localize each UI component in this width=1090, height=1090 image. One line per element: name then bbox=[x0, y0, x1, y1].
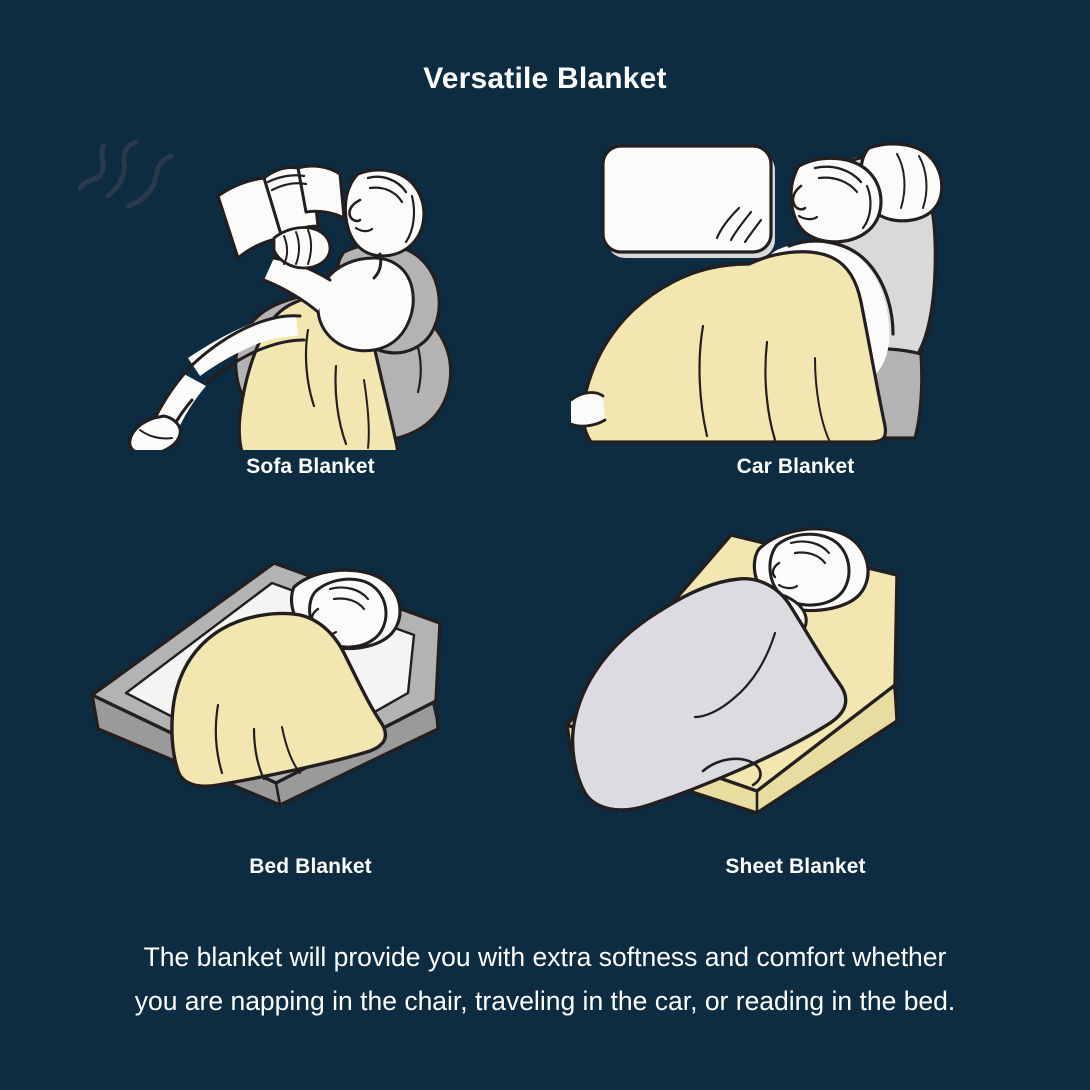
panel-sheet[interactable]: Sheet Blanket bbox=[553, 515, 1038, 885]
bed-blanket-illustration bbox=[68, 515, 553, 845]
panel-car[interactable]: Car Blanket bbox=[553, 130, 1038, 500]
car-blanket-illustration bbox=[553, 130, 1038, 450]
panel-sofa[interactable]: Sofa Blanket bbox=[68, 130, 553, 500]
footer-line-1: The blanket will provide you with extra … bbox=[28, 935, 1062, 979]
footer-description: The blanket will provide you with extra … bbox=[28, 935, 1062, 1023]
panel-label-sofa: Sofa Blanket bbox=[68, 455, 553, 479]
panel-bed[interactable]: Bed Blanket bbox=[68, 515, 553, 885]
blanket-shape bbox=[583, 252, 885, 442]
steam-squiggle-icon bbox=[80, 142, 172, 206]
panel-grid: Sofa Blanket bbox=[0, 130, 1090, 890]
footer-line-2: you are napping in the chair, traveling … bbox=[28, 979, 1062, 1023]
panel-label-car: Car Blanket bbox=[553, 455, 1038, 479]
panel-label-sheet: Sheet Blanket bbox=[553, 855, 1038, 879]
person-foot bbox=[571, 393, 605, 427]
poster-root: Versatile Blanket bbox=[0, 0, 1090, 1090]
sheet-blanket-illustration bbox=[553, 515, 1038, 845]
panel-label-bed: Bed Blanket bbox=[68, 855, 553, 879]
book-icon bbox=[218, 166, 344, 268]
page-title: Versatile Blanket bbox=[0, 62, 1090, 96]
sofa-blanket-illustration bbox=[68, 130, 553, 450]
car-window-shape bbox=[603, 146, 775, 258]
